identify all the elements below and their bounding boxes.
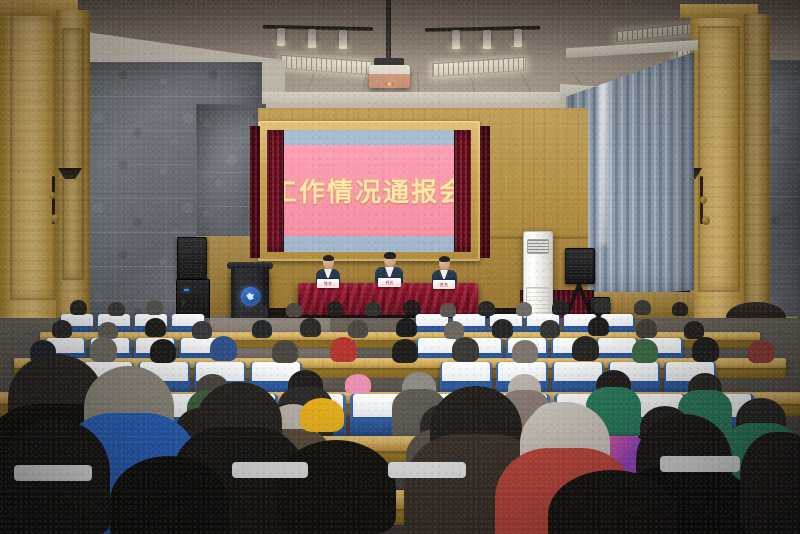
slide-body: 工作情况通报会 [284,145,454,237]
pa-speaker [565,248,595,284]
wall-sconce-finial [702,216,710,225]
audience-member [300,318,321,337]
nameplate: 姓名 [317,279,339,288]
pillar-panel-inset [62,28,84,280]
nameplate-text: 姓名 [386,281,394,285]
audience-member [150,339,176,363]
audience-member [516,302,532,316]
audience-member [672,302,688,316]
projection-screen: 工作情况通报会 [284,130,454,252]
seat-cover [232,462,308,478]
audience-member [192,321,212,339]
audience-member [288,370,323,401]
audience-member [440,303,456,317]
audience-member [748,340,774,363]
audience-member [70,300,87,315]
seat-cover [388,462,466,478]
nameplate: 姓名 [433,280,455,289]
audience-member [492,319,513,338]
audience-member [634,300,651,315]
projection-screen-frame: 工作情况通报会 [258,121,480,261]
audience-member [392,339,418,363]
audience-member [252,320,272,338]
audience-member [272,340,298,363]
seat-cover [660,456,740,472]
audience-member [403,300,420,315]
audience-member [300,398,344,432]
emblem-mark [245,292,256,302]
audience-member [52,320,72,338]
panelist-head [384,252,396,267]
audience-member [596,370,631,401]
panelist-head [439,256,450,270]
audience-member [286,303,302,317]
panelist-head [323,255,334,269]
audience-member [512,340,538,363]
audience-member [210,336,237,361]
audience-member [452,337,479,362]
audience-member [684,321,704,339]
audience-member [145,318,166,337]
stage-side-curtain-left [267,130,283,252]
nameplate-text: 姓名 [324,282,332,286]
audience-member [327,301,343,316]
audience-member [330,337,357,362]
audience-member [594,298,611,313]
audience-member [552,300,569,315]
audience-member-pink-hat [345,374,371,394]
foreground-audience-member [740,432,800,534]
stage-drape-left [250,126,260,258]
audience-member [540,320,560,338]
window-light-gap [599,67,608,246]
audience-member [402,372,436,402]
panelist-hair [439,256,450,262]
audience-member [444,321,464,339]
audience-member [184,296,201,312]
audience-member [146,300,163,315]
stage-side-curtain-right [455,130,471,252]
audience-member [632,339,658,363]
audience-member [478,301,495,316]
panelist-hair [384,252,396,259]
audience-member [588,317,609,336]
audience-member [90,337,117,362]
audience-member [348,320,368,338]
projection-screen-bezel: 工作情况通报会 [267,130,471,252]
pillar-panel-inset [698,26,740,292]
institution-emblem-icon [241,287,260,306]
audience-member [688,373,722,403]
panelist-hair [323,255,334,261]
pillar-panel-inset [10,14,56,300]
wall-sconce-finial [51,214,59,223]
foreground-audience-member [276,440,396,534]
conference-hall-photo: 工作情况通报会 姓名 姓名 [0,0,800,534]
wall-sconce-finial [49,192,56,199]
wall-sconce-finial [700,196,707,204]
audience-member [636,319,657,338]
audience-member [365,302,381,316]
foreground-audience-member [430,386,522,472]
audience-member [252,304,268,318]
audience-member [572,336,599,361]
seat-cover [14,465,92,481]
nameplate-text: 姓名 [440,283,448,287]
audience-member [108,302,125,316]
foreground-audience-member [196,382,282,462]
audience-member [692,337,719,362]
audience-member [508,374,541,403]
stage-drape-right [480,126,490,258]
pa-speaker [177,237,207,281]
slide-top-band [284,130,454,145]
audience-member [396,318,417,337]
ac-vent [527,239,548,254]
slide-title: 工作情况通报会 [284,172,454,209]
slide-bottom-band [284,236,454,252]
nameplate: 姓名 [378,278,401,287]
